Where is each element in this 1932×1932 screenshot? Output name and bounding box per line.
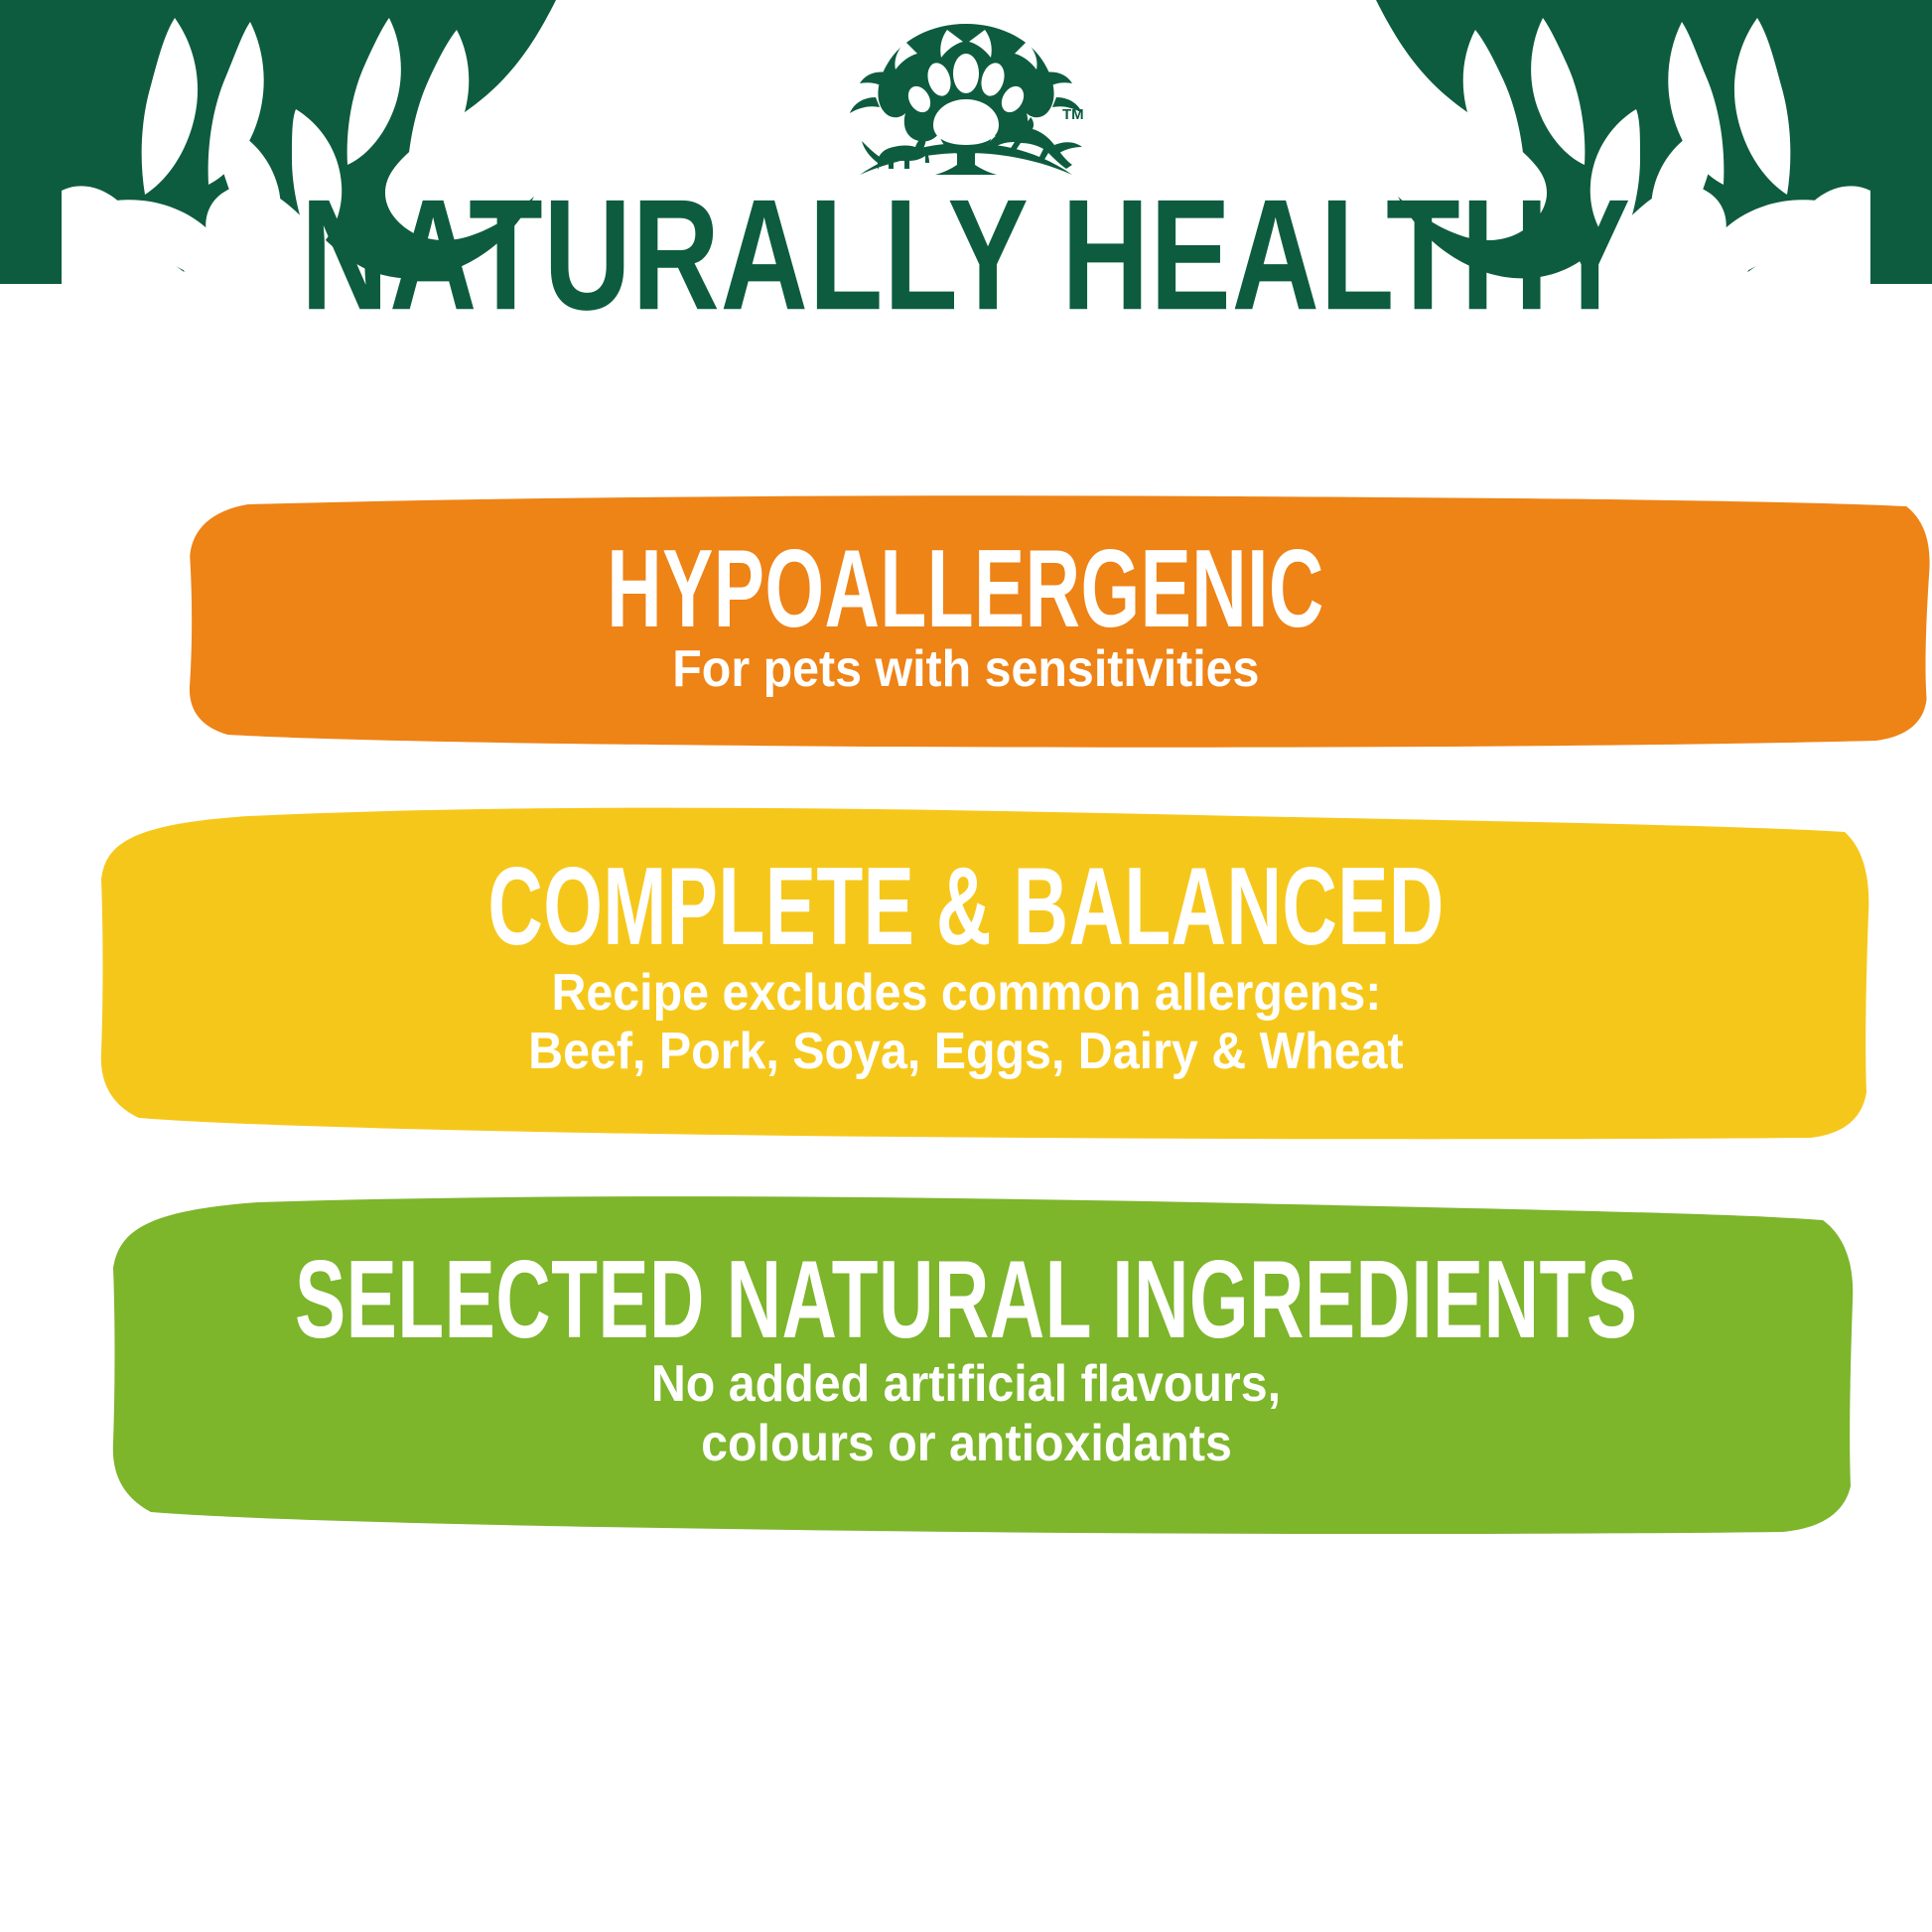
banner-selected-natural-ingredients-subtitle-line-1: No added artificial flavours, [651,1355,1281,1414]
banner-complete-and-balanced-subtitle-line-2: Beef, Pork, Soya, Eggs, Dairy & Wheat [528,1023,1403,1081]
cat-icon [862,137,929,170]
banner-complete-and-balanced-title: COMPLETE & BALANCED [487,853,1444,961]
banner-complete-and-balanced: COMPLETE & BALANCED Recipe excludes comm… [0,802,1932,1140]
banner-selected-natural-ingredients-subtitle-line-2: colours or antioxidants [701,1415,1232,1473]
tree-with-paw-logo: TM [832,16,1100,180]
banner-hypoallergenic-title: HYPOALLERGENIC [608,536,1324,644]
page-title: NATURALLY HEALTHY [135,177,1797,335]
banner-hypoallergenic-subtitle-line-1: For pets with sensitivities [672,640,1259,699]
banner-selected-natural-ingredients: SELECTED NATURAL INGREDIENTS No added ar… [0,1192,1932,1535]
banner-selected-natural-ingredients-content: SELECTED NATURAL INGREDIENTS No added ar… [0,1192,1932,1535]
banner-selected-natural-ingredients-title: SELECTED NATURAL INGREDIENTS [295,1247,1637,1355]
poster-canvas: TM NATURALLY HEALTHY HYPOALLERGENIC For … [0,0,1932,1932]
claims-banner-list: HYPOALLERGENIC For pets with sensitiviti… [0,494,1932,1735]
trademark-symbol: TM [1062,106,1084,123]
banner-hypoallergenic: HYPOALLERGENIC For pets with sensitiviti… [0,494,1932,749]
banner-complete-and-balanced-subtitle-line-1: Recipe excludes common allergens: [551,964,1381,1023]
banner-complete-and-balanced-content: COMPLETE & BALANCED Recipe excludes comm… [0,802,1932,1140]
banner-hypoallergenic-content: HYPOALLERGENIC For pets with sensitiviti… [0,494,1932,749]
